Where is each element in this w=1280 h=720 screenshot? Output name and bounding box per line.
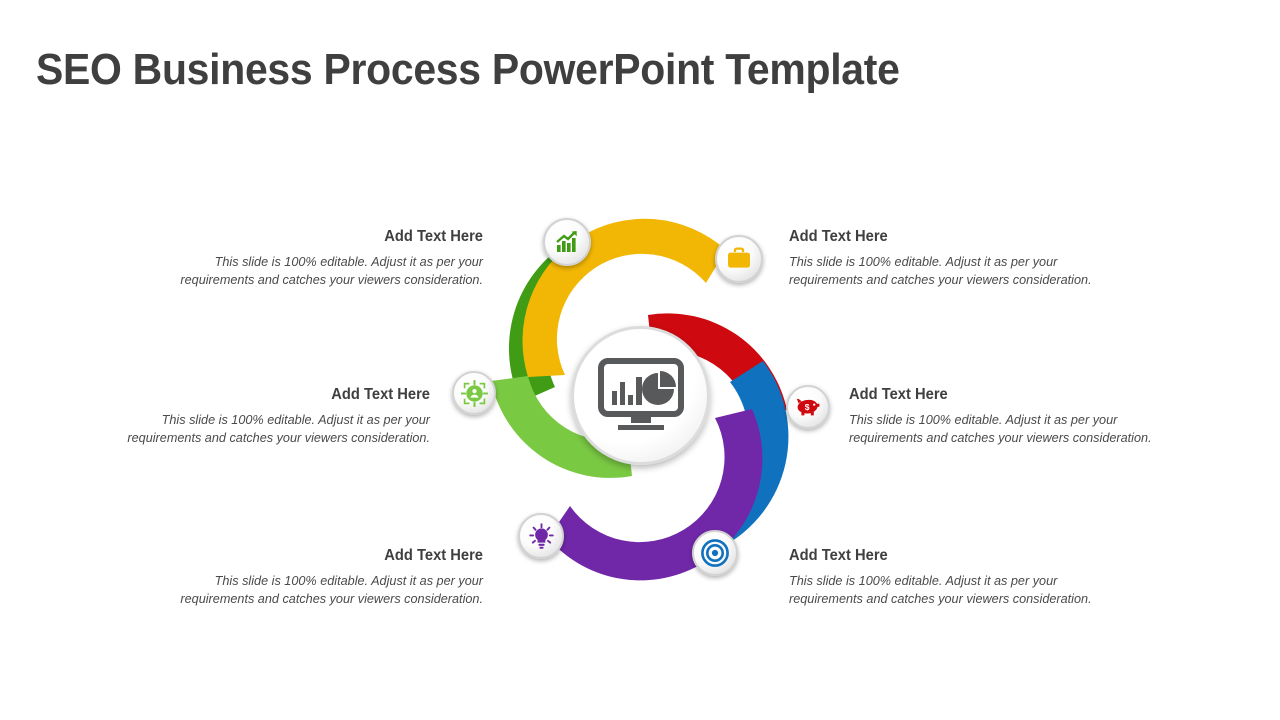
briefcase-icon bbox=[726, 247, 752, 271]
growth-chart-icon bbox=[554, 229, 580, 255]
text-block-heading: Add Text Here bbox=[98, 386, 431, 405]
center-hub bbox=[571, 326, 710, 465]
text-block-middle-right: Add Text Here This slide is 100% editabl… bbox=[849, 386, 1199, 447]
piggy-bank-icon: $ bbox=[796, 396, 821, 418]
text-block-top-left: Add Text Here This slide is 100% editabl… bbox=[133, 228, 483, 289]
text-block-heading: Add Text Here bbox=[789, 228, 1122, 247]
audience-target-icon bbox=[461, 380, 488, 407]
text-block-top-right: Add Text Here This slide is 100% editabl… bbox=[789, 228, 1139, 289]
text-block-bottom-right: Add Text Here This slide is 100% editabl… bbox=[789, 547, 1139, 608]
badge-bottom-left[interactable] bbox=[518, 513, 564, 559]
text-block-heading: Add Text Here bbox=[151, 228, 484, 247]
slide-canvas: SEO Business Process PowerPoint Template bbox=[0, 0, 1280, 720]
target-bullseye-icon bbox=[701, 539, 729, 567]
monitor-analytics-icon bbox=[598, 358, 684, 434]
text-block-bottom-left: Add Text Here This slide is 100% editabl… bbox=[133, 547, 483, 608]
text-block-body: This slide is 100% editable. Adjust it a… bbox=[147, 253, 483, 289]
text-block-body: This slide is 100% editable. Adjust it a… bbox=[94, 411, 430, 447]
text-block-middle-left: Add Text Here This slide is 100% editabl… bbox=[80, 386, 430, 447]
badge-top-right[interactable] bbox=[715, 235, 763, 283]
badge-top-left[interactable] bbox=[543, 218, 591, 266]
text-block-body: This slide is 100% editable. Adjust it a… bbox=[789, 253, 1125, 289]
lightbulb-icon bbox=[528, 523, 555, 550]
badge-bottom-right[interactable] bbox=[692, 530, 738, 576]
page-title: SEO Business Process PowerPoint Template bbox=[36, 45, 1059, 95]
badge-middle-right[interactable]: $ bbox=[786, 385, 830, 429]
badge-middle-left[interactable] bbox=[452, 371, 496, 415]
text-block-body: This slide is 100% editable. Adjust it a… bbox=[789, 572, 1125, 608]
svg-text:$: $ bbox=[804, 402, 809, 412]
text-block-heading: Add Text Here bbox=[151, 547, 484, 566]
text-block-body: This slide is 100% editable. Adjust it a… bbox=[849, 411, 1185, 447]
text-block-heading: Add Text Here bbox=[849, 386, 1182, 405]
text-block-heading: Add Text Here bbox=[789, 547, 1122, 566]
text-block-body: This slide is 100% editable. Adjust it a… bbox=[147, 572, 483, 608]
